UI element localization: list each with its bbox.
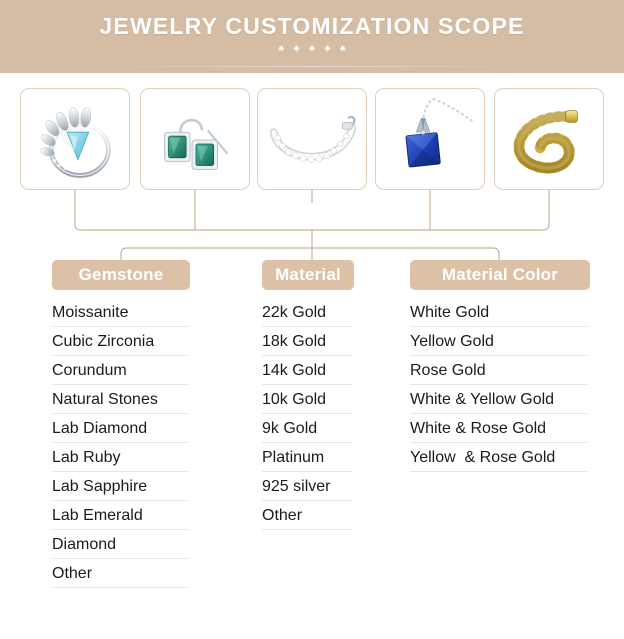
list-item[interactable]: Lab Emerald [52,501,189,530]
star-icon: ✷ [339,45,347,55]
category-header-material[interactable]: Material [262,260,354,290]
product-card-gold-cuban-chain[interactable] [494,88,604,190]
list-item[interactable]: Other [262,501,352,530]
list-item[interactable]: Corundum [52,356,189,385]
list-item[interactable]: Yellow & Rose Gold [410,443,588,472]
star-icon: ✷ [277,45,285,55]
list-item[interactable]: White Gold [410,298,588,327]
list-item[interactable]: 22k Gold [262,298,352,327]
list-item[interactable]: Yellow Gold [410,327,588,356]
list-item[interactable]: White & Rose Gold [410,414,588,443]
list-item[interactable]: 14k Gold [262,356,352,385]
product-card-tennis-bracelet[interactable] [257,88,367,190]
list-item[interactable]: Lab Ruby [52,443,189,472]
gold-cuban-chain-image [495,89,603,189]
category-header-material-color[interactable]: Material Color [410,260,590,290]
tennis-bracelet-image [258,89,366,189]
category-header-gemstone[interactable]: Gemstone [52,260,190,290]
star-icon: ✷ [292,45,300,55]
header-banner: JEWELRY CUSTOMIZATION SCOPE ✷ ✷ ✷ ✷ ✷ [0,0,624,73]
gemstone-ring-image [21,89,129,189]
list-item[interactable]: 9k Gold [262,414,352,443]
page-title: JEWELRY CUSTOMIZATION SCOPE [99,13,524,40]
list-item[interactable]: Cubic Zirconia [52,327,189,356]
list-item[interactable]: Platinum [262,443,352,472]
list-item[interactable]: Natural Stones [52,385,189,414]
list-item[interactable]: Diamond [52,530,189,559]
emerald-earrings-image [141,89,249,189]
product-card-emerald-earrings[interactable] [140,88,250,190]
material-color-option-list: White Gold Yellow Gold Rose Gold White &… [410,298,588,472]
list-item[interactable]: 10k Gold [262,385,352,414]
category-column-material: Material 22k Gold 18k Gold 14k Gold 10k … [262,260,354,530]
star-icon: ✷ [323,45,331,55]
category-column-material-color: Material Color White Gold Yellow Gold Ro… [410,260,590,472]
list-item[interactable]: 18k Gold [262,327,352,356]
gemstone-option-list: Moissanite Cubic Zirconia Corundum Natur… [52,298,189,588]
product-card-sapphire-pendant-necklace[interactable] [375,88,485,190]
banner-underline [100,66,524,67]
product-card-row [0,88,624,190]
sapphire-pendant-necklace-image [376,89,484,189]
list-item[interactable]: Lab Diamond [52,414,189,443]
star-icon: ✷ [308,45,316,55]
star-divider-icon: ✷ ✷ ✷ ✷ ✷ [277,45,347,55]
material-option-list: 22k Gold 18k Gold 14k Gold 10k Gold 9k G… [262,298,352,530]
list-item[interactable]: Lab Sapphire [52,472,189,501]
jewelry-customization-scope-infographic: JEWELRY CUSTOMIZATION SCOPE ✷ ✷ ✷ ✷ ✷ [0,0,624,639]
category-column-gemstone: Gemstone Moissanite Cubic Zirconia Corun… [52,260,190,588]
list-item[interactable]: Rose Gold [410,356,588,385]
product-card-gemstone-ring[interactable] [20,88,130,190]
list-item[interactable]: Moissanite [52,298,189,327]
list-item[interactable]: Other [52,559,189,588]
list-item[interactable]: White & Yellow Gold [410,385,588,414]
list-item[interactable]: 925 silver [262,472,352,501]
